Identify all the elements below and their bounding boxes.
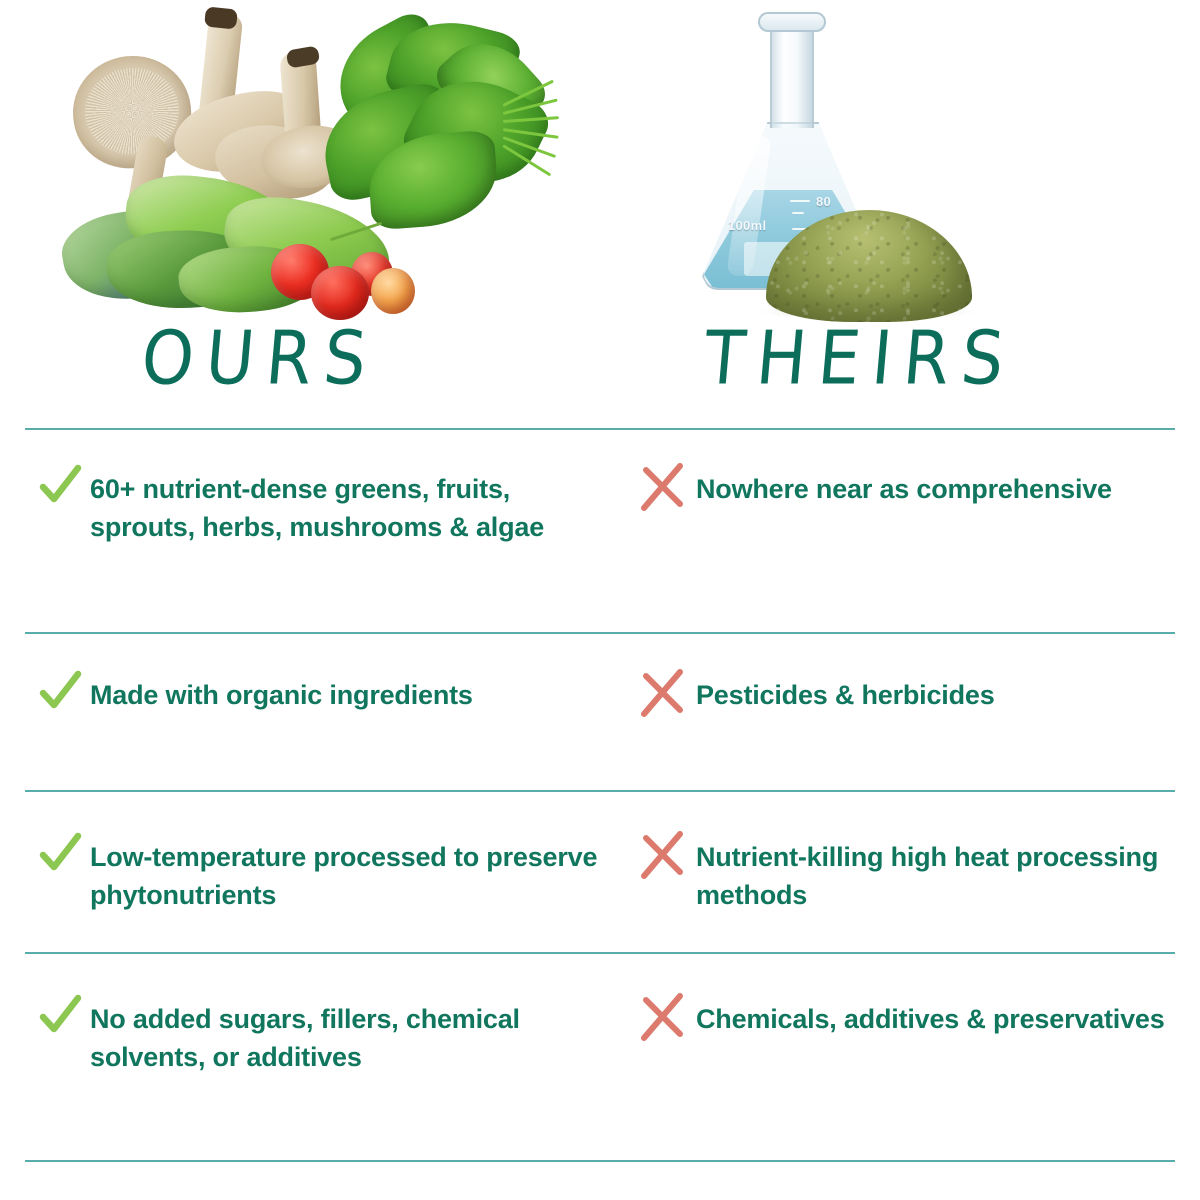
hero-imagery: 100ml 80 60 bbox=[0, 0, 1200, 330]
flask-marking-80: 80 bbox=[816, 194, 831, 209]
comparison-cell-theirs: Chemicals, additives & preservatives bbox=[640, 1000, 1180, 1038]
row-divider bbox=[25, 632, 1175, 634]
comparison-cell-theirs: Pesticides & herbicides bbox=[640, 676, 1180, 714]
row-divider bbox=[25, 428, 1175, 430]
comparison-text-theirs: Chemicals, additives & preservatives bbox=[696, 1000, 1165, 1038]
spinach-stems-icon bbox=[503, 100, 565, 154]
theirs-image-panel: 100ml 80 60 bbox=[600, 0, 1200, 330]
whole-foods-produce-photo bbox=[55, 8, 555, 308]
comparison-cell-theirs: Nowhere near as comprehensive bbox=[640, 470, 1180, 508]
flask-marking-100ml: 100ml bbox=[728, 218, 766, 233]
comparison-cell-theirs: Nutrient-killing high heat processing me… bbox=[640, 838, 1180, 915]
comparison-text-ours: 60+ nutrient-dense greens, fruits, sprou… bbox=[90, 470, 618, 547]
check-icon bbox=[38, 832, 82, 876]
column-title-ours: OURS bbox=[0, 315, 564, 401]
check-icon bbox=[38, 994, 82, 1038]
acerola-cherry-icon bbox=[371, 268, 415, 314]
cross-icon bbox=[640, 994, 684, 1038]
cross-icon bbox=[640, 464, 684, 508]
flask-lip-icon bbox=[758, 12, 826, 32]
leafy-greens-front-icon bbox=[63, 168, 393, 308]
flask-tick-icon bbox=[792, 212, 804, 214]
row-divider bbox=[25, 790, 1175, 792]
cross-icon bbox=[640, 670, 684, 714]
mushroom-tall-tip-icon bbox=[204, 6, 238, 29]
column-titles: OURS THEIRS bbox=[0, 320, 1200, 420]
cross-icon bbox=[640, 832, 684, 876]
column-title-theirs: THEIRS bbox=[556, 315, 1164, 401]
comparison-cell-ours: Made with organic ingredients bbox=[38, 676, 618, 714]
lab-flask-green-powder-photo: 100ml 80 60 bbox=[640, 4, 970, 322]
comparison-text-theirs: Nowhere near as comprehensive bbox=[696, 470, 1112, 508]
check-icon bbox=[38, 670, 82, 714]
comparison-text-ours: Low-temperature processed to preserve ph… bbox=[90, 838, 618, 915]
comparison-text-theirs: Nutrient-killing high heat processing me… bbox=[696, 838, 1180, 915]
flask-tick-icon bbox=[790, 200, 810, 202]
comparison-cell-ours: No added sugars, fillers, chemical solve… bbox=[38, 1000, 618, 1077]
acerola-cherry-icon bbox=[311, 266, 369, 320]
comparison-text-theirs: Pesticides & herbicides bbox=[696, 676, 995, 714]
comparison-text-ours: Made with organic ingredients bbox=[90, 676, 473, 714]
comparison-cell-ours: Low-temperature processed to preserve ph… bbox=[38, 838, 618, 915]
ours-image-panel bbox=[0, 0, 600, 330]
row-divider bbox=[25, 952, 1175, 954]
flask-neck-icon bbox=[770, 18, 814, 128]
comparison-cell-ours: 60+ nutrient-dense greens, fruits, sprou… bbox=[38, 470, 618, 547]
comparison-text-ours: No added sugars, fillers, chemical solve… bbox=[90, 1000, 618, 1077]
row-divider bbox=[25, 1160, 1175, 1162]
check-icon bbox=[38, 464, 82, 508]
